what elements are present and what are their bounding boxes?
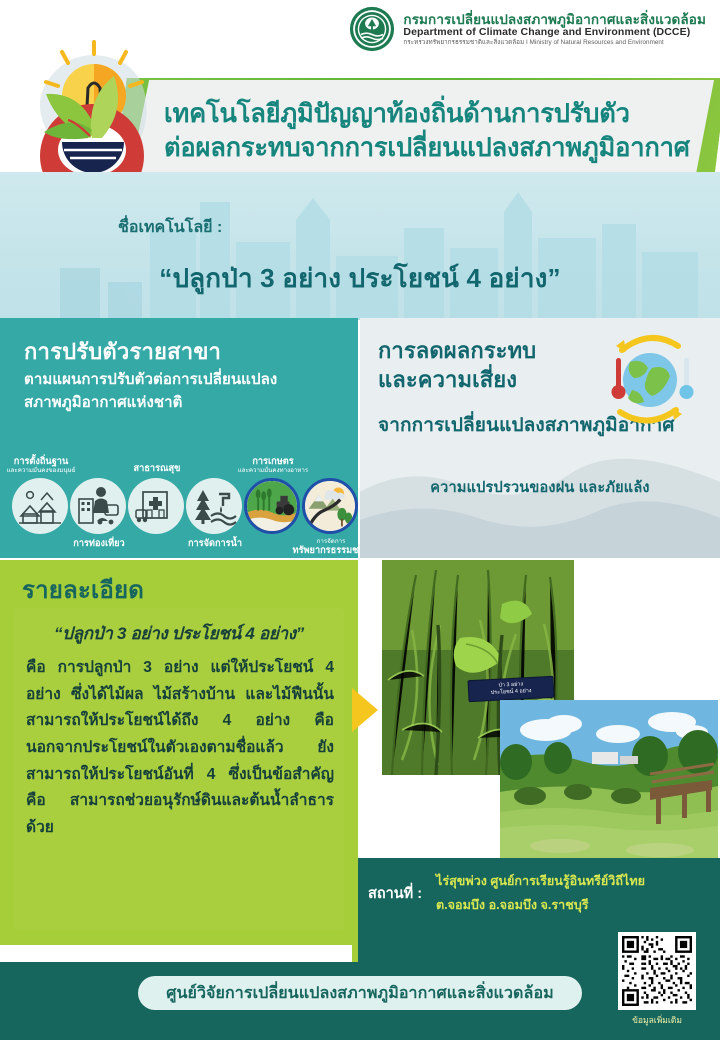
details-panel: รายละเอียด “ปลูกป่า 3 อย่าง ประโยชน์ 4 อ… xyxy=(0,560,358,945)
sector-caption-water: การจัดการน้ำ xyxy=(188,538,242,549)
adaptation-heading: การปรับตัวรายสาขา xyxy=(24,334,221,369)
sector-label-agriculture: การเกษตร xyxy=(238,456,308,467)
sector-caption-natural-resources: การจัดการ ทรัพยากรธรรมชาติ xyxy=(293,538,370,556)
details-box: “ปลูกป่า 3 อย่าง ประโยชน์ 4 อย่าง” คือ ก… xyxy=(14,608,344,930)
sector-item-agriculture[interactable]: การเกษตร และความมั่นคงทางอาหาร xyxy=(244,478,302,534)
details-body: คือ การปลูกป่า 3 อย่าง แต่ให้ประโยชน์ 4 … xyxy=(14,653,344,842)
sector-item-water[interactable]: การจัดการน้ำ xyxy=(186,478,244,534)
public-health-icon xyxy=(128,478,184,534)
sector-label-tourism: การท่องเที่ยว xyxy=(73,538,124,549)
sector-caption-tourism: การท่องเที่ยว xyxy=(73,538,124,549)
sector-sublabel-settlement: และความมั่นคงของมนุษย์ xyxy=(7,467,76,474)
sector-label-natural-resources: ทรัพยากรธรรมชาติ xyxy=(293,545,370,556)
poster-title: เทคโนโลยีภูมิปัญญาท้องถิ่นด้านการปรับตัว… xyxy=(128,80,714,184)
title-line-2: ต่อผลกระทบจากการเปลี่ยนแปลงสภาพภูมิอากาศ xyxy=(164,132,690,166)
location-value: ไร่สุขพ่วง ศูนย์การเรียนรู้อินทรีย์วิถีไ… xyxy=(436,870,712,918)
details-quote: “ปลูกป่า 3 อย่าง ประโยชน์ 4 อย่าง” xyxy=(14,608,344,653)
footer-pill: ศูนย์วิจัยการเปลี่ยนแปลงสภาพภูมิอากาศและ… xyxy=(138,976,582,1010)
adaptation-subheading: ตามแผนการปรับตัวต่อการเปลี่ยนแปลง สภาพภู… xyxy=(24,368,344,415)
details-heading: รายละเอียด xyxy=(22,570,144,609)
sector-caption-settlement: การตั้งถิ่นฐาน และความมั่นคงของมนุษย์ xyxy=(7,456,76,474)
sector-item-settlement[interactable]: การตั้งถิ่นฐาน และความมั่นคงของมนุษย์ xyxy=(12,478,70,534)
qr-caption: ข้อมูลเพิ่มเติม xyxy=(632,1013,682,1027)
location-label: สถานที่ : xyxy=(368,882,422,905)
photo-sign-plate: ป่า 3 อย่าง ประโยชน์ 4 อย่าง xyxy=(467,676,554,702)
org-ministry-line: กระทรวงทรัพยากรธรรมชาติและสิ่งแวดล้อม I … xyxy=(403,39,706,46)
sector-sublabel-natural-resources: การจัดการ xyxy=(293,538,370,545)
location-line-1: ไร่สุขพ่วง ศูนย์การเรียนรู้อินทรีย์วิถีไ… xyxy=(436,870,712,894)
sector-label-water: การจัดการน้ำ xyxy=(188,538,242,549)
arrow-right-icon xyxy=(352,688,378,732)
technology-label: ชื่อเทคโนโลยี : xyxy=(118,215,222,240)
poster-root: กรมการเปลี่ยนแปลงสภาพภูมิอากาศและสิ่งแวด… xyxy=(0,0,720,1040)
sector-label-settlement: การตั้งถิ่นฐาน xyxy=(7,456,76,467)
footer-text: ศูนย์วิจัยการเปลี่ยนแปลงสภาพภูมิอากาศและ… xyxy=(166,981,554,1006)
title-line-1: เทคโนโลยีภูมิปัญญาท้องถิ่นด้านการปรับตัว xyxy=(164,98,690,132)
mitigation-note: ความแปรปรวนของฝน และภัยแล้ง xyxy=(360,476,720,499)
agriculture-icon xyxy=(244,478,300,534)
mitigation-heading-line2: และความเสี่ยง xyxy=(378,365,608,394)
sector-item-natural-resources[interactable]: การจัดการ ทรัพยากรธรรมชาติ xyxy=(302,478,360,534)
settlement-icon xyxy=(12,478,68,534)
qr-block[interactable]: ข้อมูลเพิ่มเติม xyxy=(604,928,710,1032)
adaptation-subheading-line2: สภาพภูมิอากาศแห่งชาติ xyxy=(24,391,344,414)
dcce-logo: กรมการเปลี่ยนแปลงสภาพภูมิอากาศและสิ่งแวด… xyxy=(349,6,706,52)
org-name-en: Department of Climate Change and Environ… xyxy=(403,27,706,39)
ministry-seal-icon xyxy=(349,6,395,52)
field-photo-art xyxy=(500,700,718,858)
technology-name: “ปลูกป่า 3 อย่าง ประโยชน์ 4 อย่าง” xyxy=(0,258,720,299)
mitigation-panel: การลดผลกระทบ และความเสี่ยง จากการเปลี่ยน… xyxy=(360,318,720,558)
sector-sublabel-agriculture: และความมั่นคงทางอาหาร xyxy=(238,467,308,474)
tourism-icon xyxy=(70,478,126,534)
sector-item-health[interactable]: สาธารณสุข xyxy=(128,478,186,534)
sector-item-tourism[interactable]: การท่องเที่ยว xyxy=(70,478,128,534)
location-line-2: ต.จอมบึง อ.จอมบึง จ.ราชบุรี xyxy=(436,894,712,918)
sector-label-health: สาธารณสุข xyxy=(134,463,181,474)
sector-icon-row: การตั้งถิ่นฐาน และความมั่นคงของมนุษย์ xyxy=(8,452,356,556)
sign-line-2: ประโยชน์ 4 อย่าง xyxy=(491,688,532,697)
sector-caption-health: สาธารณสุข xyxy=(134,463,181,474)
water-management-icon xyxy=(186,478,242,534)
mitigation-heading-line1: การลดผลกระทบ xyxy=(378,336,608,365)
qr-code-icon[interactable] xyxy=(618,932,696,1010)
field-walkway-photo xyxy=(500,700,718,858)
mitigation-heading: การลดผลกระทบ และความเสี่ยง xyxy=(378,336,608,394)
org-name-th: กรมการเปลี่ยนแปลงสภาพภูมิอากาศและสิ่งแวด… xyxy=(403,12,706,27)
sector-caption-agriculture: การเกษตร และความมั่นคงทางอาหาร xyxy=(238,456,308,474)
natural-resources-icon xyxy=(302,478,358,534)
globe-thermometer-icon xyxy=(592,332,704,428)
adaptation-subheading-line1: ตามแผนการปรับตัวต่อการเปลี่ยนแปลง xyxy=(24,368,344,391)
